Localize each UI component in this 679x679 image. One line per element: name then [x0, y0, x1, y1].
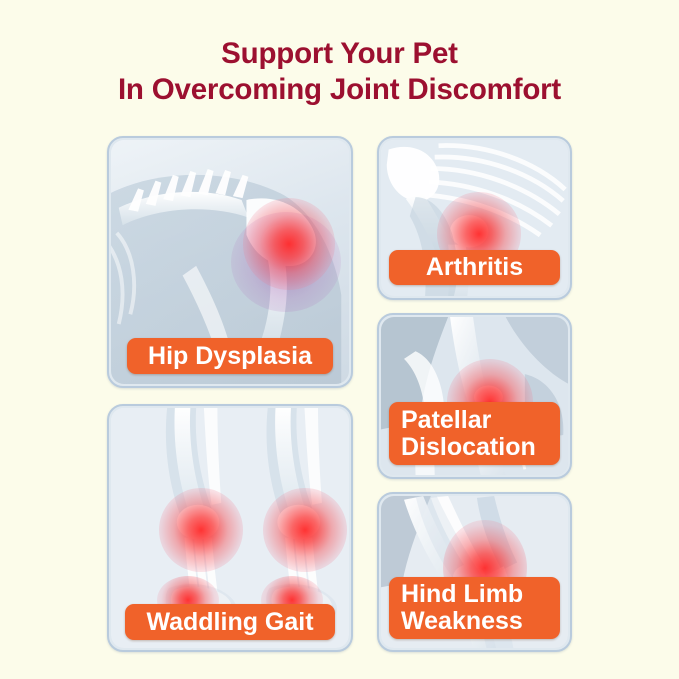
page-title: Support Your Pet In Overcoming Joint Dis… [0, 36, 679, 108]
page-title-line-2: In Overcoming Joint Discomfort [0, 72, 679, 108]
symptom-card-hip-dysplasia[interactable]: Hip Dysplasia [107, 136, 353, 388]
symptom-card-grid: Hip Dysplasia [107, 136, 572, 652]
symptom-card-hind-limb-weakness[interactable]: Hind Limb Weakness [377, 492, 572, 652]
page-title-line-1: Support Your Pet [0, 36, 679, 72]
symptom-card-patellar-dislocation[interactable]: Patellar Dislocation [377, 313, 572, 479]
card-label-hip-dysplasia: Hip Dysplasia [127, 338, 333, 374]
symptom-card-arthritis[interactable]: Arthritis [377, 136, 572, 300]
card-label-waddling-gait: Waddling Gait [125, 604, 335, 640]
symptom-card-waddling-gait[interactable]: Waddling Gait [107, 404, 353, 652]
card-label-arthritis: Arthritis [389, 250, 560, 285]
card-label-hind-limb-weakness: Hind Limb Weakness [389, 577, 560, 639]
promo-infographic: Support Your Pet In Overcoming Joint Dis… [0, 0, 679, 679]
card-label-patellar-dislocation: Patellar Dislocation [389, 402, 560, 465]
